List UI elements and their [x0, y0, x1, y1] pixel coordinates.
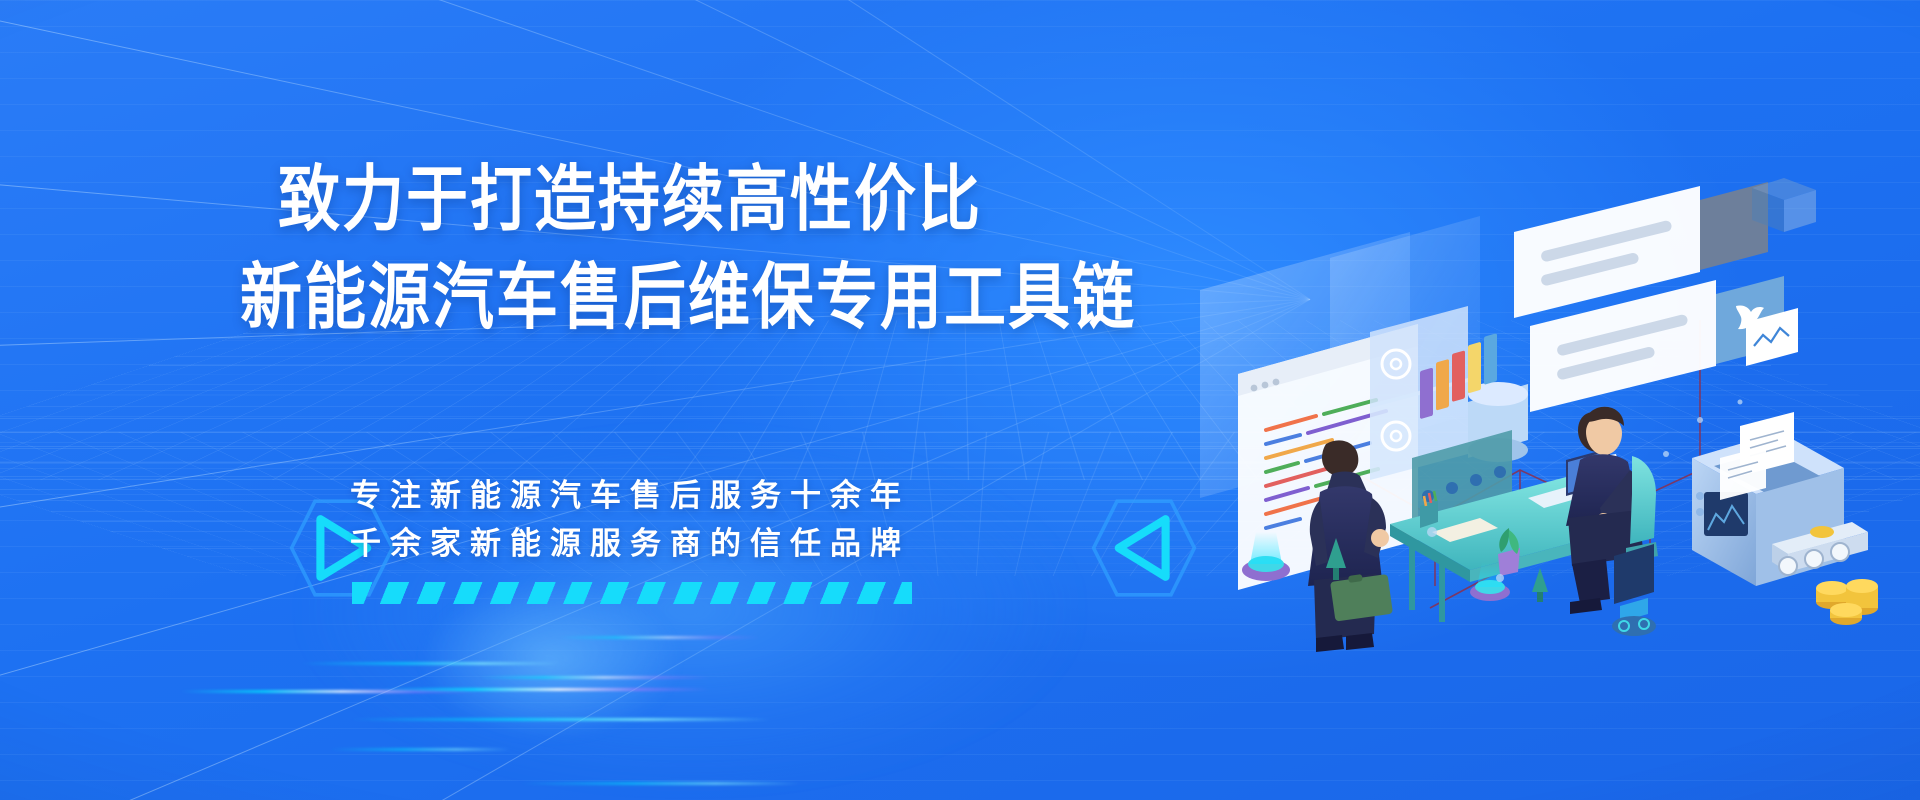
subtitle-block: 专注新能源汽车售后服务十余年 千余家新能源服务商的信任品牌 — [240, 472, 1020, 568]
coin-stack — [1816, 579, 1878, 625]
headline-line-1: 致力于打造持续高性价比 — [240, 165, 1020, 237]
light-streak — [350, 718, 770, 721]
light-streak — [480, 676, 710, 679]
monitor-pedestal — [1612, 544, 1656, 636]
headline-block: 致力于打造持续高性价比 新能源汽车售后维保专用工具链 — [240, 170, 1020, 330]
light-streak — [560, 636, 760, 639]
isometric-business-office-illustration — [1180, 140, 1920, 660]
light-streak — [520, 782, 800, 785]
promo-banner: 致力于打造持续高性价比 新能源汽车售后维保专用工具链 专注新能源汽车售后服务十余… — [0, 0, 1920, 800]
play-arrow-left-icon — [1090, 494, 1198, 602]
printer-machine-with-documents — [1692, 412, 1868, 586]
headline-line-2: 新能源汽车售后维保专用工具链 — [240, 263, 1020, 335]
subtitle-line-2: 千余家新能源服务商的信任品牌 — [240, 520, 1020, 568]
light-streak — [330, 748, 510, 751]
light-streak — [300, 662, 560, 665]
diagonal-stripe-bar — [352, 582, 912, 604]
subtitle-line-1: 专注新能源汽车售后服务十余年 — [240, 472, 1020, 520]
accent-glow-spot — [420, 580, 680, 740]
light-streak — [380, 688, 710, 691]
